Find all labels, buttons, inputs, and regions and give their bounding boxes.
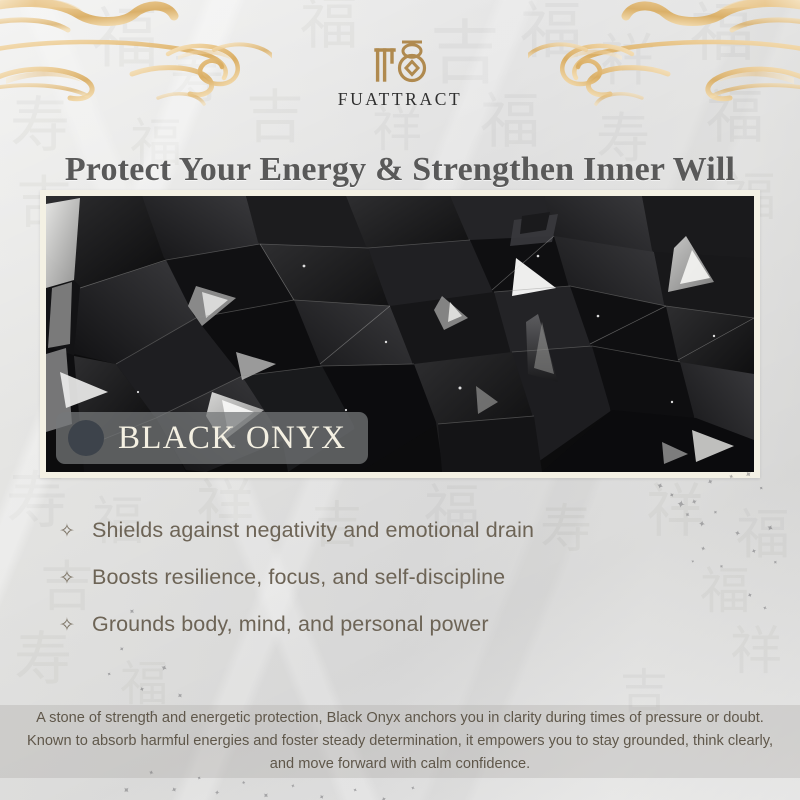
- four-point-star-icon: ✧: [58, 616, 76, 635]
- dust-speck-icon: ✦: [168, 785, 178, 795]
- dust-speck-icon: ✦: [409, 785, 416, 792]
- dust-speck-icon: ✦: [761, 605, 768, 613]
- benefit-text: Grounds body, mind, and personal power: [92, 612, 489, 637]
- dust-speck-icon: ✦: [289, 783, 296, 790]
- hero-image-frame: BLACK ONYX: [40, 190, 760, 478]
- fuattract-monogram-icon: [372, 36, 428, 84]
- dust-speck-icon: ✦: [711, 509, 719, 517]
- list-item: ✧ Shields against negativity and emotion…: [58, 518, 748, 565]
- description-text: A stone of strength and energetic protec…: [24, 707, 776, 776]
- four-point-star-icon: ✧: [58, 522, 76, 541]
- dust-speck-icon: ✦: [120, 785, 132, 797]
- dust-speck-icon: ✦: [688, 497, 698, 506]
- dust-speck-icon: ✦: [351, 787, 358, 795]
- dust-speck-icon: ✦: [757, 485, 765, 493]
- dust-speck-icon: ✦: [675, 499, 687, 512]
- dust-speck-icon: ✦: [137, 685, 146, 693]
- dust-speck-icon: ✦: [260, 791, 270, 800]
- dust-speck-icon: ✦: [704, 477, 714, 487]
- black-onyx-color-swatch-icon: [68, 420, 104, 456]
- list-item: ✧ Grounds body, mind, and personal power: [58, 612, 748, 659]
- product-card: 福寿福吉福祥福寿福吉祥福寿福吉福寿福祥吉福寿祥福吉福寿祥福吉: [0, 0, 800, 800]
- dust-speck-icon: ✦: [379, 795, 388, 800]
- brand-name: FUATTRACT: [0, 89, 800, 110]
- list-item: ✧ Boosts resilience, focus, and self-dis…: [58, 565, 748, 612]
- description-band: A stone of strength and energetic protec…: [0, 705, 800, 778]
- watermark-character: 福: [120, 660, 168, 708]
- watermark-character: 祥: [372, 104, 422, 154]
- four-point-star-icon: ✧: [58, 569, 76, 588]
- dust-speck-icon: ✦: [158, 663, 169, 674]
- dust-speck-icon: ✦: [174, 691, 184, 701]
- benefit-text: Boosts resilience, focus, and self-disci…: [92, 565, 505, 590]
- dust-speck-icon: ✦: [239, 780, 246, 787]
- dust-speck-icon: ✦: [749, 547, 758, 555]
- page-title: Protect Your Energy & Strengthen Inner W…: [0, 151, 800, 189]
- dust-speck-icon: ✦: [105, 671, 113, 679]
- stone-name-badge: BLACK ONYX: [56, 412, 368, 464]
- dust-speck-icon: ✦: [655, 481, 665, 492]
- dust-speck-icon: ✦: [214, 790, 221, 798]
- stone-name-label: BLACK ONYX: [118, 420, 346, 457]
- dust-speck-icon: ✦: [764, 523, 775, 534]
- dust-speck-icon: ✦: [666, 491, 675, 500]
- benefit-text: Shields against negativity and emotional…: [92, 518, 534, 543]
- dust-speck-icon: ✦: [771, 559, 779, 567]
- benefits-list: ✧ Shields against negativity and emotion…: [58, 518, 748, 659]
- brand-header: FUATTRACT: [0, 36, 800, 110]
- dust-speck-icon: ✦: [316, 793, 325, 800]
- hero-image-container: BLACK ONYX: [46, 196, 754, 472]
